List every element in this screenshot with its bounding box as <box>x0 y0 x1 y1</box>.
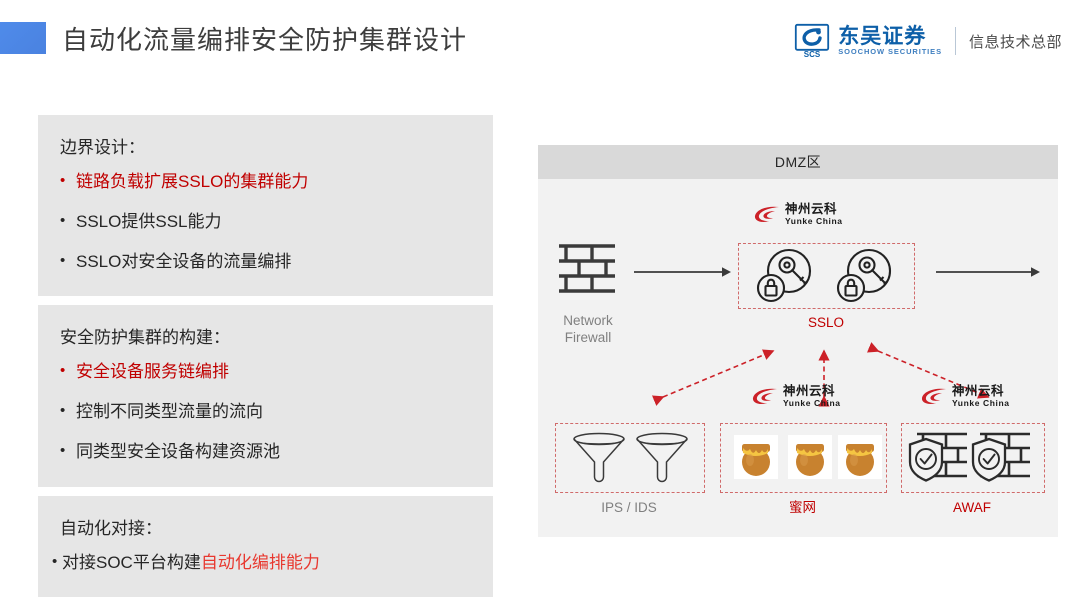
node-label-sslo: SSLO <box>781 315 871 332</box>
list-item: • 控制不同类型流量的流向 <box>38 392 493 432</box>
vendor-name-zh: 神州云科 <box>783 385 841 399</box>
shield-brick-wall-icon <box>972 429 1034 485</box>
content-block-boundary-design: 边界设计： • 链路负载扩展SSLO的集群能力 • SSLO提供SSL能力 • … <box>38 115 493 296</box>
funnel-icon <box>570 431 628 483</box>
logo-divider <box>955 27 956 55</box>
left-content-panel: 边界设计： • 链路负载扩展SSLO的集群能力 • SSLO提供SSL能力 • … <box>38 115 493 606</box>
honey-pot-icon <box>838 435 882 479</box>
list-item: • SSLO对安全设备的流量编排 <box>38 242 493 282</box>
list-item-text: 同类型安全设备构建资源池 <box>76 441 280 463</box>
list-item-text-plain: 对接SOC平台构建 <box>62 552 201 574</box>
architecture-diagram: DMZ区 Network Firewall <box>538 145 1058 537</box>
honey-pot-icon <box>734 435 778 479</box>
list-item-text: 链路负载扩展SSLO的集群能力 <box>76 171 308 193</box>
title-accent-bar <box>0 22 46 54</box>
yunke-china-logo-mark <box>753 205 781 224</box>
list-item: • 安全设备服务链编排 <box>38 352 493 392</box>
list-item-text-highlight: 自动化编排能力 <box>201 552 320 574</box>
bullet-icon: • <box>60 441 76 461</box>
vendor-logo-honeynet: 神州云科 Yunke China <box>751 385 841 409</box>
vendor-logo-text: 神州云科 Yunke China <box>785 203 843 227</box>
soochow-securities-logo-mark: SCS <box>795 24 829 58</box>
vendor-name-en: Yunke China <box>783 399 841 409</box>
yunke-china-logo-mark <box>920 387 948 406</box>
bullet-icon: • <box>60 171 76 191</box>
node-label-network-firewall: Network Firewall <box>543 313 633 347</box>
vendor-logo-text: 神州云科 Yunke China <box>952 385 1010 409</box>
vendor-name-en: Yunke China <box>785 217 843 227</box>
key-lock-icon <box>836 246 898 304</box>
block-heading: 自动化对接： <box>38 510 493 543</box>
honey-pot-icon <box>788 435 832 479</box>
node-label-honeynet: 蜜网 <box>720 500 885 517</box>
yunke-china-logo-mark <box>751 387 779 406</box>
list-item-text: SSLO提供SSL能力 <box>76 211 222 233</box>
list-item: • 对接SOC平台构建自动化编排能力 <box>38 543 493 583</box>
list-item: • SSLO提供SSL能力 <box>38 202 493 242</box>
block-heading: 安全防护集群的构建： <box>38 319 493 352</box>
list-item-text: SSLO对安全设备的流量编排 <box>76 251 291 273</box>
svg-text:SCS: SCS <box>804 50 821 59</box>
page-header: 自动化流量编排安全防护集群设计 SCS 东吴证券 SOOCHOW SECURIT… <box>0 0 1080 85</box>
bullet-icon: • <box>60 361 76 381</box>
key-lock-icon <box>756 246 818 304</box>
logo-text: 东吴证券 SOOCHOW SECURITIES <box>838 26 942 56</box>
logo-name-en: SOOCHOW SECURITIES <box>838 48 942 56</box>
list-item-text: 控制不同类型流量的流向 <box>76 401 263 423</box>
list-item: • 链路负载扩展SSLO的集群能力 <box>38 162 493 202</box>
arrow-firewall-to-sslo <box>634 265 732 279</box>
content-block-automation: 自动化对接： • 对接SOC平台构建自动化编排能力 <box>38 496 493 597</box>
list-item: • 同类型安全设备构建资源池 <box>38 432 493 472</box>
dmz-zone-header: DMZ区 <box>538 145 1058 179</box>
arrow-sslo-outbound <box>936 265 1041 279</box>
vendor-logo-text: 神州云科 Yunke China <box>783 385 841 409</box>
funnel-icon <box>633 431 691 483</box>
vendor-name-zh: 神州云科 <box>785 203 843 217</box>
vendor-name-zh: 神州云科 <box>952 385 1010 399</box>
brick-wall-icon <box>556 240 618 298</box>
vendor-logo-sslo: 神州云科 Yunke China <box>753 203 843 227</box>
node-label-ips-ids: IPS / IDS <box>555 500 703 517</box>
bullet-icon: • <box>60 251 76 271</box>
list-item-text: 安全设备服务链编排 <box>76 361 229 383</box>
bullet-icon: • <box>52 552 62 572</box>
shield-brick-wall-icon <box>909 429 971 485</box>
vendor-name-en: Yunke China <box>952 399 1010 409</box>
vendor-logo-awaf: 神州云科 Yunke China <box>920 385 1010 409</box>
page-title: 自动化流量编排安全防护集群设计 <box>62 20 467 57</box>
logo-department: 信息技术总部 <box>969 31 1062 52</box>
logo-name-zh: 东吴证券 <box>838 26 942 48</box>
node-label-awaf: AWAF <box>901 500 1043 517</box>
block-heading: 边界设计： <box>38 129 493 162</box>
bullet-icon: • <box>60 211 76 231</box>
company-logo: SCS 东吴证券 SOOCHOW SECURITIES 信息技术总部 <box>795 24 1062 58</box>
content-block-cluster-build: 安全防护集群的构建： • 安全设备服务链编排 • 控制不同类型流量的流向 • 同… <box>38 305 493 486</box>
bullet-icon: • <box>60 401 76 421</box>
